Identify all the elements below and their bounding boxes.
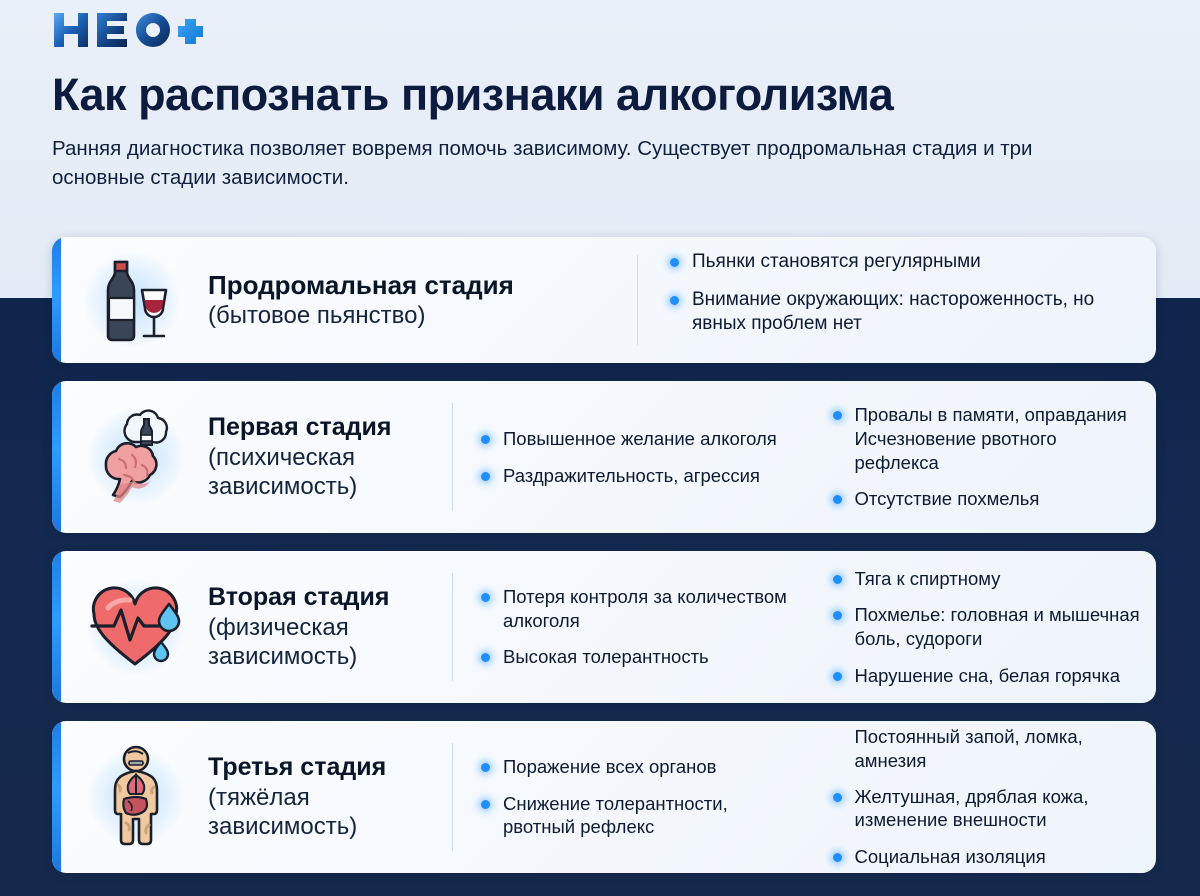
list-item: Высокая толерантность [479,645,791,669]
list-item-text: Тяга к спиртному [855,568,1001,589]
list-item-text: Раздражительность, агрессия [503,465,760,486]
bullet-column: Повышенное желание алкоголя Раздражитель… [453,427,805,487]
stage-card-prodromal[interactable]: Продромальная стадия (бытовое пьянство) … [52,237,1156,363]
bullet-column: Постоянный запой, ломка, амнезия Желтушн… [805,725,1157,868]
list-item-text: Похмелье: головная и мышечная боль, судо… [855,604,1140,649]
bullet-dot-icon [481,763,490,772]
list-item: Снижение толерантности, рвотный рефлекс [479,792,791,839]
card-accent-bar [52,381,61,533]
stage-card-second[interactable]: Вторая стадия (физическая зависимость) П… [52,551,1156,703]
bullet-column: Пьянки становятся регулярными Внимание о… [638,250,1156,351]
infographic-page: Как распознать признаки алкоголизма Ранн… [0,0,1200,896]
bullet-dot-icon [670,296,679,305]
bullet-dot-icon [481,653,490,662]
bullet-column: Потеря контроля за количеством алкоголя … [453,585,805,669]
card-columns: Потеря контроля за количеством алкоголя … [453,551,1156,703]
list-item: Отсутствие похмелья [831,487,1143,511]
list-item-text: Снижение толерантности, рвотный рефлекс [503,793,728,838]
bullet-dot-icon [833,611,842,620]
brand-logo[interactable] [52,8,1152,54]
list-item: Пьянки становятся регулярными [668,250,1142,274]
list-item: Похмелье: головная и мышечная боль, судо… [831,603,1143,650]
list-item-text: Поражение всех органов [503,756,717,777]
card-accent-bar [52,551,61,703]
list-item-text: Социальная изоляция [855,846,1046,867]
bullet-list: Постоянный запой, ломка, амнезия Желтушн… [831,725,1143,868]
list-item: Поражение всех органов [479,755,791,779]
stage-title: Вторая стадия (физическая зависимость) [208,582,452,671]
stage-title-sub: (физическая зависимость) [208,613,452,672]
human-body-organs-icon [82,743,190,851]
list-item-text: Нарушение сна, белая горячка [855,665,1121,686]
card-columns: Повышенное желание алкоголя Раздражитель… [453,381,1156,533]
card-header: Первая стадия (психическая зависимость) [52,381,452,533]
list-item-text: Желтушная, дряблая кожа, изменение внешн… [855,786,1089,831]
bullet-dot-icon [481,472,490,481]
bullet-column: Провалы в памяти, оправдания Исчезновени… [805,403,1157,511]
bullet-list: Пьянки становятся регулярными Внимание о… [668,250,1142,337]
stage-title-sub: (бытовое пьянство) [208,301,514,330]
list-item: Нарушение сна, белая горячка [831,664,1143,688]
bullet-dot-icon [481,800,490,809]
list-item-text: Провалы в памяти, оправдания Исчезновени… [855,404,1127,472]
bullet-dot-icon [833,495,842,504]
card-accent-bar [52,721,61,873]
bullet-dot-icon [833,575,842,584]
stage-title-sub: (психическая зависимость) [208,443,452,502]
card-header: Вторая стадия (физическая зависимость) [52,551,452,703]
bullet-column: Тяга к спиртному Похмелье: головная и мы… [805,567,1157,688]
neo-plus-logo-icon [52,11,204,51]
page-title: Как распознать признаки алкоголизма [52,70,1152,120]
stage-title-sub: (тяжёлая зависимость) [208,783,452,842]
bullet-list: Провалы в памяти, оправдания Исчезновени… [831,403,1143,511]
list-item: Социальная изоляция [831,845,1143,869]
stage-title: Третья стадия (тяжёлая зависимость) [208,752,452,841]
stage-title-main: Третья стадия [208,752,452,783]
bullet-list: Потеря контроля за количеством алкоголя … [479,585,791,669]
wine-bottle-and-glass-icon [78,246,186,354]
bullet-dot-icon [481,593,490,602]
list-item: Тяга к спиртному [831,567,1143,591]
list-item-text: Высокая толерантность [503,646,709,667]
list-item: Повышенное желание алкоголя [479,427,791,451]
bullet-list: Поражение всех органов Снижение толерант… [479,755,791,839]
stage-title-main: Продромальная стадия [208,270,514,302]
stage-card-list: Продромальная стадия (бытовое пьянство) … [52,237,1156,891]
bullet-dot-icon [833,411,842,420]
brain-with-bottle-thought-icon [82,403,190,511]
stage-title: Первая стадия (психическая зависимость) [208,412,452,501]
bullet-dot-icon [670,258,679,267]
list-item-text: Внимание окружающих: настороженность, но… [692,289,1094,334]
list-item: Потеря контроля за количеством алкоголя [479,585,791,632]
heart-with-pulse-icon [82,573,190,681]
bullet-dot-icon [833,853,842,862]
card-columns: Пьянки становятся регулярными Внимание о… [638,237,1156,363]
list-item: Внимание окружающих: настороженность, но… [668,288,1142,337]
stage-title-main: Первая стадия [208,412,452,443]
card-accent-bar [52,237,61,363]
bullet-dot-icon [481,435,490,444]
stage-card-third[interactable]: Третья стадия (тяжёлая зависимость) Пора… [52,721,1156,873]
list-item: Провалы в памяти, оправдания Исчезновени… [831,403,1143,474]
stage-title: Продромальная стадия (бытовое пьянство) [208,270,514,331]
bullet-dot-icon [833,672,842,681]
card-columns: Поражение всех органов Снижение толерант… [453,721,1156,873]
stage-title-main: Вторая стадия [208,582,452,613]
list-item-text: Постоянный запой, ломка, амнезия [855,726,1083,771]
list-item: Желтушная, дряблая кожа, изменение внешн… [831,785,1143,832]
card-header: Продромальная стадия (бытовое пьянство) [52,237,637,363]
list-item-text: Потеря контроля за количеством алкоголя [503,586,787,631]
header: Как распознать признаки алкоголизма Ранн… [52,8,1152,192]
list-item-text: Повышенное желание алкоголя [503,428,777,449]
stage-card-first[interactable]: Первая стадия (психическая зависимость) … [52,381,1156,533]
list-item-text: Отсутствие похмелья [855,488,1040,509]
list-item: Постоянный запой, ломка, амнезия [831,725,1143,772]
list-item-text: Пьянки становятся регулярными [692,251,981,272]
page-subtitle: Ранняя диагностика позволяет вовремя пом… [52,134,1082,192]
bullet-list: Повышенное желание алкоголя Раздражитель… [479,427,791,487]
card-header: Третья стадия (тяжёлая зависимость) [52,721,452,873]
list-item: Раздражительность, агрессия [479,464,791,488]
bullet-dot-icon [833,793,842,802]
bullet-list: Тяга к спиртному Похмелье: головная и мы… [831,567,1143,688]
bullet-column: Поражение всех органов Снижение толерант… [453,755,805,839]
